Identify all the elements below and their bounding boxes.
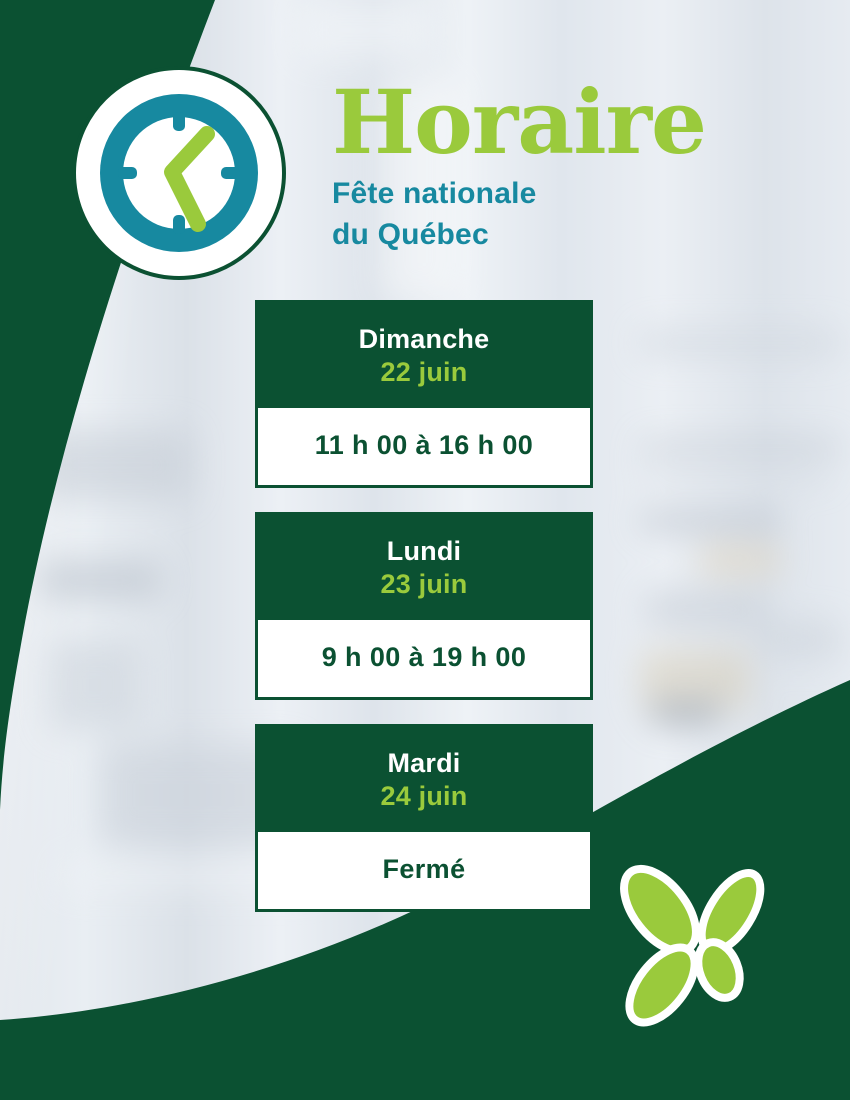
schedule-card-day: Mardi — [268, 747, 580, 780]
schedule-card-list: Dimanche 22 juin 11 h 00 à 16 h 00 Lundi… — [255, 300, 593, 936]
schedule-card-header: Mardi 24 juin — [258, 727, 590, 832]
butterfly-logo-icon — [604, 854, 794, 1044]
clock-icon — [72, 66, 286, 280]
schedule-card: Dimanche 22 juin 11 h 00 à 16 h 00 — [255, 300, 593, 488]
poster-root: Horaire Fête nationale du Québec Dimanch… — [0, 0, 850, 1100]
page-title: Horaire — [332, 80, 802, 164]
schedule-card-body: 9 h 00 à 19 h 00 — [258, 620, 590, 697]
subtitle-line-1: Fête nationale — [332, 177, 537, 210]
poster-header: Horaire Fête nationale du Québec — [332, 80, 802, 256]
page-subtitle: Fête nationale du Québec — [332, 174, 802, 256]
schedule-card: Lundi 23 juin 9 h 00 à 19 h 00 — [255, 512, 593, 700]
schedule-card-hours: 11 h 00 à 16 h 00 — [266, 430, 582, 461]
schedule-card-header: Dimanche 22 juin — [258, 303, 590, 408]
schedule-card-hours: Fermé — [266, 854, 582, 885]
schedule-card-header: Lundi 23 juin — [258, 515, 590, 620]
schedule-card-body: Fermé — [258, 832, 590, 909]
schedule-card-day: Lundi — [268, 535, 580, 568]
schedule-card-body: 11 h 00 à 16 h 00 — [258, 408, 590, 485]
schedule-card-hours: 9 h 00 à 19 h 00 — [266, 642, 582, 673]
schedule-card: Mardi 24 juin Fermé — [255, 724, 593, 912]
schedule-card-date: 22 juin — [268, 356, 580, 389]
subtitle-line-2: du Québec — [332, 218, 489, 251]
schedule-card-date: 24 juin — [268, 780, 580, 813]
schedule-card-date: 23 juin — [268, 568, 580, 601]
schedule-card-day: Dimanche — [268, 323, 580, 356]
